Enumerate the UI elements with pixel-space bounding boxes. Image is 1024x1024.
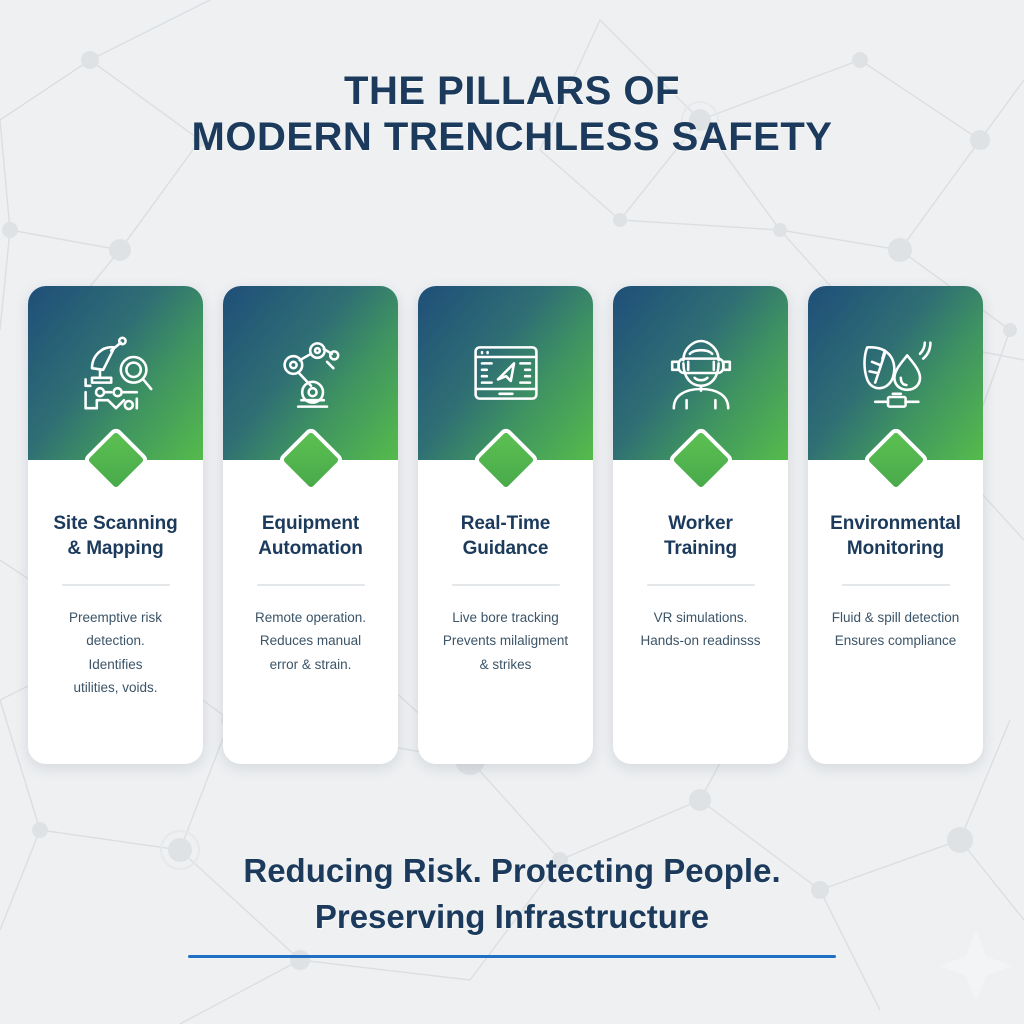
footer-underline-rule [188, 955, 836, 958]
card-title-line-1: Site Scanning [53, 513, 177, 534]
card-desc-line: Ensures compliance [835, 633, 957, 648]
leaf-droplet-sensor-icon [853, 333, 939, 413]
title-line-1: THE PILLARS OF [0, 68, 1024, 114]
card-desc-line: Reduces manual [260, 633, 361, 648]
footer-line-2: Preserving Infrastructure [0, 894, 1024, 940]
card-header [28, 286, 203, 460]
card-divider [62, 584, 170, 586]
card-desc-line: Identifies [88, 657, 142, 672]
robot-arm-icon [268, 333, 354, 413]
card-title: Real-Time Guidance [461, 512, 551, 562]
card-description: Fluid & spill detection Ensures complian… [832, 606, 960, 653]
monitor-compass-icon [463, 333, 549, 413]
card-desc-line: Preemptive risk [69, 610, 162, 625]
pillar-card-site-scanning[interactable]: Site Scanning & Mapping Preemptive risk … [28, 286, 203, 764]
card-desc-line: Prevents milaligment [443, 633, 568, 648]
card-divider [257, 584, 365, 586]
infographic-page: THE PILLARS OF MODERN TRENCHLESS SAFETY [0, 0, 1024, 1024]
page-title: THE PILLARS OF MODERN TRENCHLESS SAFETY [0, 68, 1024, 161]
card-title: Worker Training [664, 512, 737, 562]
card-title-line-1: Worker [668, 513, 733, 534]
pillar-card-real-time-guidance[interactable]: Real-Time Guidance Live bore tracking Pr… [418, 286, 593, 764]
card-description: Live bore tracking Prevents milaligment … [443, 606, 568, 676]
card-title-line-2: & Mapping [67, 538, 163, 559]
card-description: Preemptive risk detection. Identifies ut… [69, 606, 162, 699]
card-title-line-2: Training [664, 538, 737, 559]
card-description: VR simulations. Hands-on readinsss [640, 606, 760, 653]
footer-line-1: Reducing Risk. Protecting People. [0, 848, 1024, 894]
card-header [223, 286, 398, 460]
card-desc-line: Live bore tracking [452, 610, 559, 625]
card-body: Real-Time Guidance Live bore tracking Pr… [418, 460, 593, 764]
card-desc-line: utilities, voids. [73, 680, 157, 695]
card-divider [647, 584, 755, 586]
card-desc-line: VR simulations. [654, 610, 748, 625]
card-title: Equipment Automation [258, 512, 363, 562]
card-header [418, 286, 593, 460]
card-desc-line: Fluid & spill detection [832, 610, 960, 625]
pillar-card-equipment-automation[interactable]: Equipment Automation Remote operation. R… [223, 286, 398, 764]
pillar-cards: Site Scanning & Mapping Preemptive risk … [28, 286, 996, 764]
vr-worker-icon [658, 333, 744, 413]
card-body: Environmental Monitoring Fluid & spill d… [808, 460, 983, 764]
card-title-line-1: Environmental [830, 513, 961, 534]
card-title-line-2: Automation [258, 538, 363, 559]
card-title-line-2: Guidance [463, 538, 549, 559]
card-title-line-1: Real-Time [461, 513, 551, 534]
card-description: Remote operation. Reduces manual error &… [255, 606, 366, 676]
card-title: Site Scanning & Mapping [53, 512, 177, 562]
card-desc-line: & strikes [480, 657, 532, 672]
card-title: Environmental Monitoring [830, 512, 961, 562]
card-header [613, 286, 788, 460]
card-body: Equipment Automation Remote operation. R… [223, 460, 398, 764]
card-title-line-1: Equipment [262, 513, 359, 534]
card-title-line-2: Monitoring [847, 538, 944, 559]
satellite-scanner-icon [73, 333, 159, 413]
pillar-card-environmental-monitoring[interactable]: Environmental Monitoring Fluid & spill d… [808, 286, 983, 764]
card-body: Worker Training VR simulations. Hands-on… [613, 460, 788, 764]
card-divider [842, 584, 950, 586]
card-divider [452, 584, 560, 586]
title-line-2: MODERN TRENCHLESS SAFETY [0, 114, 1024, 160]
card-header [808, 286, 983, 460]
card-desc-line: error & strain. [270, 657, 352, 672]
card-desc-line: detection. [86, 633, 145, 648]
card-body: Site Scanning & Mapping Preemptive risk … [28, 460, 203, 764]
card-desc-line: Remote operation. [255, 610, 366, 625]
footer-tagline: Reducing Risk. Protecting People. Preser… [0, 848, 1024, 958]
card-desc-line: Hands-on readinsss [640, 633, 760, 648]
pillar-card-worker-training[interactable]: Worker Training VR simulations. Hands-on… [613, 286, 788, 764]
